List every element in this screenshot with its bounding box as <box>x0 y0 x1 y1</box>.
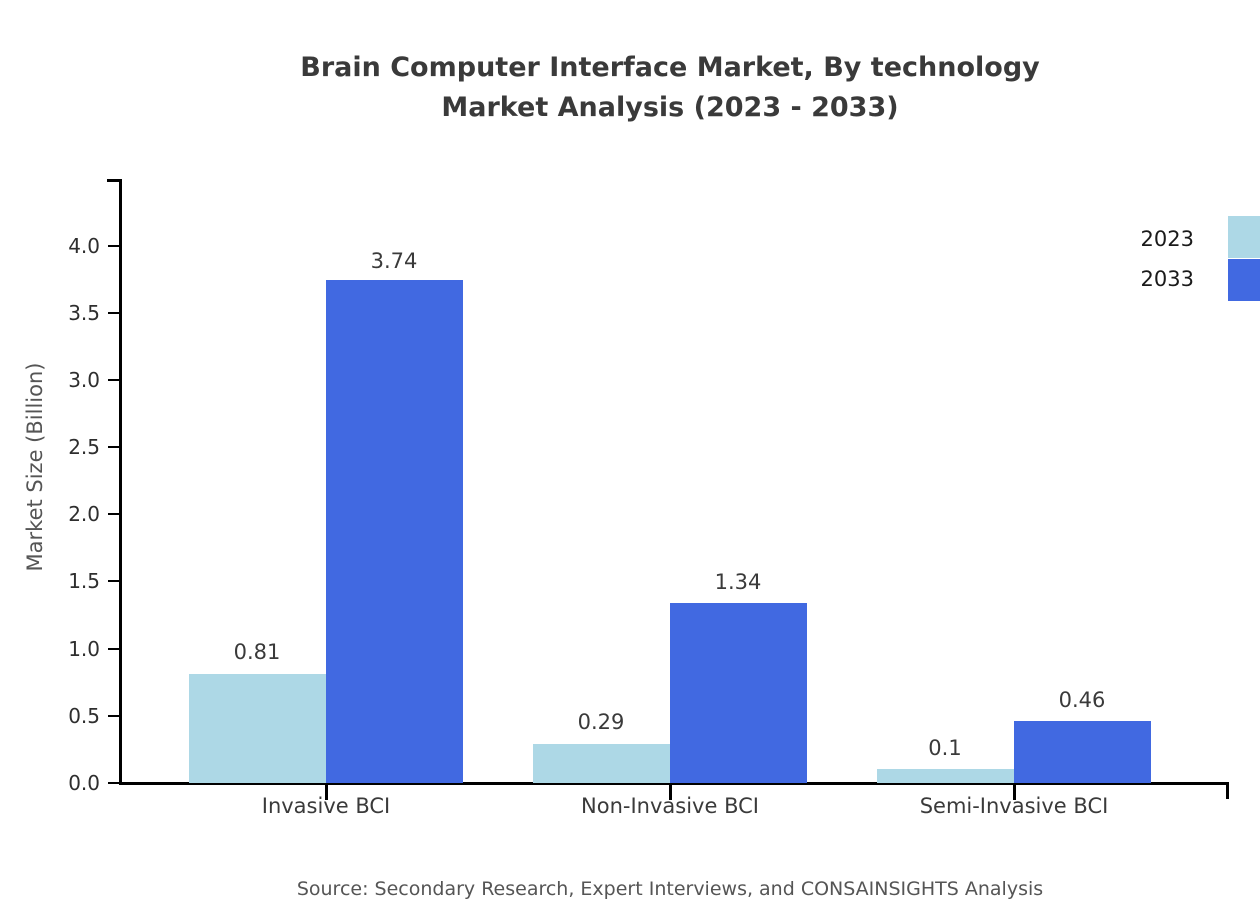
source-note: Source: Secondary Research, Expert Inter… <box>0 878 1260 900</box>
y-tick-mark-0 <box>108 782 121 784</box>
y-tick-label-2: 1.0 <box>0 639 100 659</box>
bar-2023-semi-invasive-bci[interactable] <box>877 769 1014 783</box>
y-tick-label-5: 2.5 <box>0 437 100 457</box>
x-tick-label-invasive-bci: Invasive BCI <box>176 794 476 818</box>
y-tick-mark-6 <box>108 379 121 381</box>
y-axis-top-cap <box>107 179 121 182</box>
y-tick-mark-8 <box>108 245 121 247</box>
legend-swatch-2033[interactable] <box>1228 259 1260 301</box>
y-tick-label-8: 4.0 <box>0 236 100 256</box>
y-tick-label-1: 0.5 <box>0 706 100 726</box>
y-axis-spine <box>119 179 122 785</box>
y-tick-label-4: 2.0 <box>0 504 100 524</box>
y-tick-label-0: 0.0 <box>0 773 100 793</box>
y-tick-label-7: 3.5 <box>0 303 100 323</box>
chart-title: Brain Computer Interface Market, By tech… <box>0 48 1260 128</box>
y-tick-mark-1 <box>108 715 121 717</box>
chart-title-line-2: Market Analysis (2023 - 2033) <box>0 88 1260 128</box>
bar-2033-non-invasive-bci[interactable] <box>670 603 807 783</box>
legend-label-2023[interactable]: 2023 <box>1028 227 1194 251</box>
legend-swatch-2023[interactable] <box>1228 216 1260 258</box>
y-tick-mark-5 <box>108 446 121 448</box>
bar-2023-invasive-bci[interactable] <box>189 674 326 783</box>
y-tick-mark-4 <box>108 513 121 515</box>
y-tick-mark-7 <box>108 312 121 314</box>
legend-label-2033[interactable]: 2033 <box>1028 267 1194 291</box>
bar-label-2033-non-invasive-bci: 1.34 <box>628 570 848 594</box>
x-tick-label-non-invasive-bci: Non-Invasive BCI <box>520 794 820 818</box>
y-tick-mark-3 <box>108 580 121 582</box>
y-tick-mark-2 <box>108 648 121 650</box>
y-tick-label-3: 1.5 <box>0 571 100 591</box>
bar-2033-semi-invasive-bci[interactable] <box>1014 721 1151 783</box>
bar-2023-non-invasive-bci[interactable] <box>533 744 670 783</box>
chart-title-line-1: Brain Computer Interface Market, By tech… <box>0 48 1260 88</box>
bar-2033-invasive-bci[interactable] <box>326 280 463 783</box>
x-axis-end-cap <box>1226 782 1229 799</box>
bar-label-2033-semi-invasive-bci: 0.46 <box>972 688 1192 712</box>
bar-chart-figure: Brain Computer Interface Market, By tech… <box>0 0 1260 920</box>
bar-label-2033-invasive-bci: 3.74 <box>284 249 504 273</box>
x-tick-label-semi-invasive-bci: Semi-Invasive BCI <box>864 794 1164 818</box>
y-tick-label-6: 3.0 <box>0 370 100 390</box>
